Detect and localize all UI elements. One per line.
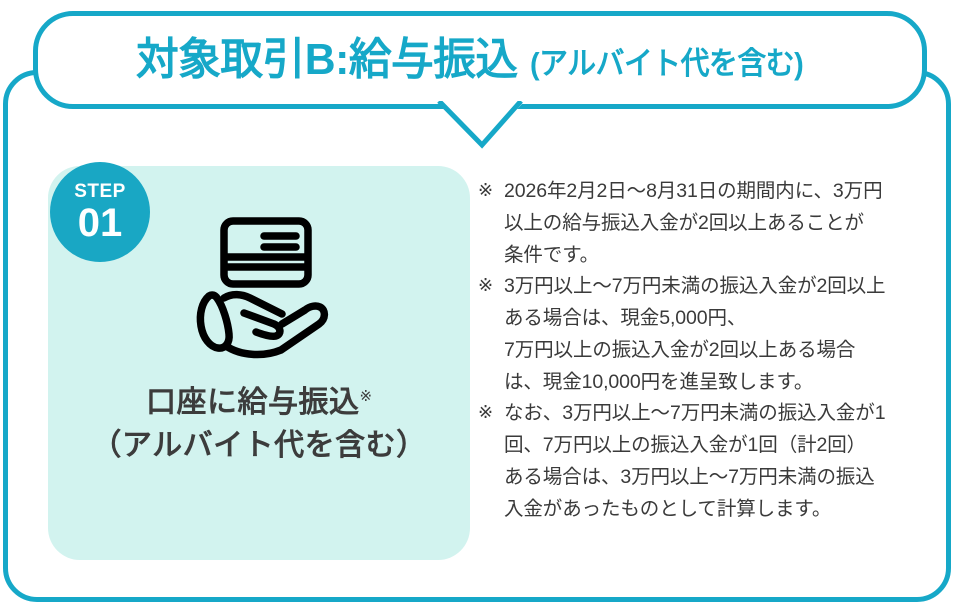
note-line: 2026年2月2日〜8月31日の期間内に、3万円 xyxy=(504,176,926,208)
note-line: ある場合は、3万円以上〜7万円未満の振込 xyxy=(504,462,926,494)
note-item: ※ 3万円以上〜7万円未満の振込入金が2回以上 ある場合は、現金5,000円、 … xyxy=(478,271,926,398)
note-body: 3万円以上〜7万円未満の振込入金が2回以上 ある場合は、現金5,000円、 7万… xyxy=(504,271,926,398)
note-line: ある場合は、現金5,000円、 xyxy=(504,303,926,335)
note-asterisk-mark: ※ xyxy=(478,176,504,205)
panel-caption: 口座に給与振込※ （アルバイト代を含む） xyxy=(48,382,470,467)
note-line: 以上の給与振込入金が2回以上あることが xyxy=(504,208,926,240)
note-body: 2026年2月2日〜8月31日の期間内に、3万円 以上の給与振込入金が2回以上あ… xyxy=(504,176,926,271)
step-number: 01 xyxy=(78,203,123,243)
caption-line-1: 口座に給与振込※ xyxy=(48,382,470,425)
caption-text-1: 口座に給与振込 xyxy=(146,386,360,419)
note-line: 回、7万円以上の振込入金が1回（計2回） xyxy=(504,430,926,462)
step-label: STEP xyxy=(74,182,126,201)
note-line: 3万円以上〜7万円未満の振込入金が2回以上 xyxy=(504,271,926,303)
note-body: なお、3万円以上〜7万円未満の振込入金が1 回、7万円以上の振込入金が1回（計2… xyxy=(504,398,926,525)
page-title: 対象取引B:給与振込 (アルバイト代を含む) xyxy=(136,38,823,82)
title-sub-text: (アルバイト代を含む) xyxy=(530,48,803,79)
caption-line-2: （アルバイト代を含む） xyxy=(48,425,470,468)
note-line: 入金があったものとして計算します。 xyxy=(504,494,926,526)
note-asterisk-mark: ※ xyxy=(478,398,504,427)
note-line: 条件です。 xyxy=(504,240,926,272)
title-main-text: 対象取引B:給与振込 xyxy=(136,38,518,82)
note-line: 7万円以上の振込入金が2回以上ある場合 xyxy=(504,335,926,367)
note-item: ※ なお、3万円以上〜7万円未満の振込入金が1 回、7万円以上の振込入金が1回（… xyxy=(478,398,926,525)
notes-list: ※ 2026年2月2日〜8月31日の期間内に、3万円 以上の給与振込入金が2回以… xyxy=(478,176,926,526)
caption-asterisk-mark: ※ xyxy=(359,388,372,405)
promo-card-stage: 対象取引B:給与振込 (アルバイト代を含む) STEP 01 xyxy=(0,0,960,613)
note-asterisk-mark: ※ xyxy=(478,271,504,300)
note-item: ※ 2026年2月2日〜8月31日の期間内に、3万円 以上の給与振込入金が2回以… xyxy=(478,176,926,271)
note-line: なお、3万円以上〜7万円未満の振込入金が1 xyxy=(504,398,926,430)
note-line: は、現金10,000円を進呈致します。 xyxy=(504,367,926,399)
status-badge: STEP 01 xyxy=(50,162,150,262)
speech-bubble-tail xyxy=(437,101,523,149)
hand-holding-card-icon xyxy=(186,216,346,364)
title-speech-bubble: 対象取引B:給与振込 (アルバイト代を含む) xyxy=(33,11,927,109)
